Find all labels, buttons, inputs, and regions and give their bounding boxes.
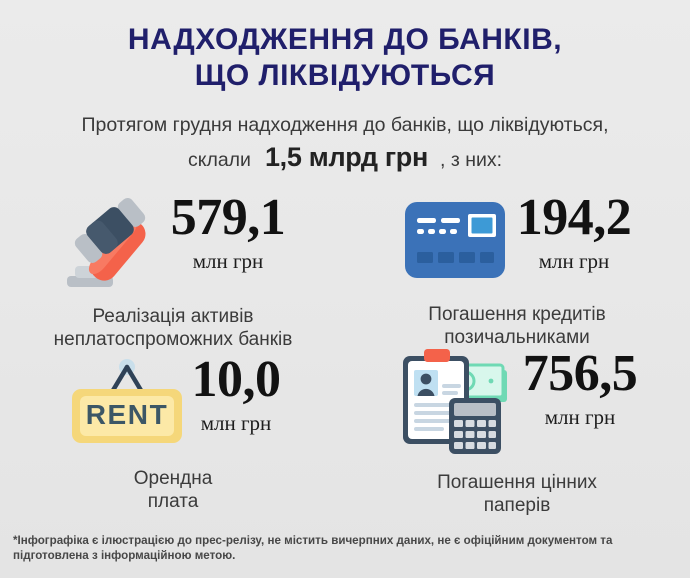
stat-unit-rent: млн грн [192, 410, 281, 436]
stat-label-assets-line-1: Реалізація активів [8, 305, 338, 328]
subtitle-line-2: склали 1,5 млрд грн , з них: [0, 142, 690, 175]
page-title: НАДХОДЖЕННЯ ДО БАНКІВ, ЩО ЛІКВІДУЮТЬСЯ [0, 22, 690, 94]
subtitle: Протягом грудня надходження до банків, щ… [0, 112, 690, 175]
infographic-canvas: НАДХОДЖЕННЯ ДО БАНКІВ, ЩО ЛІКВІДУЮТЬСЯ П… [0, 0, 690, 578]
stat-label-rent-line-1: Орендна [8, 467, 338, 490]
stats-grid: 579,1 млн грн Реалізація активів неплато… [0, 190, 690, 520]
stat-row-assets: 579,1 млн грн [8, 190, 338, 295]
stat-label-credits-line-1: Погашення кредитів [352, 303, 682, 326]
stat-label-assets-line-2: неплатоспроможних банків [8, 328, 338, 351]
footnote-line-1: *Інфографіка є ілюстрацією до прес-реліз… [13, 533, 679, 548]
securities-icon: $ [397, 346, 523, 461]
stat-value-papers: 756,5 [523, 348, 638, 400]
stat-figures-assets: 579,1 млн грн [171, 190, 286, 274]
total-amount: 1,5 млрд грн [265, 142, 428, 172]
stat-label-papers-line-2: паперів [352, 494, 682, 517]
rent-sign-text: RENT [85, 399, 168, 430]
stat-figures-credits: 194,2 млн грн [517, 190, 632, 274]
stat-figures-rent: 10,0 млн грн [192, 352, 281, 436]
footnote-line-2: підготовлена з інформаційною метою. [13, 548, 679, 563]
title-line-1: НАДХОДЖЕННЯ ДО БАНКІВ, [0, 22, 690, 58]
subtitle-line-1: Протягом грудня надходження до банків, щ… [0, 112, 690, 138]
stat-unit-assets: млн грн [171, 248, 286, 274]
stat-label-assets: Реалізація активів неплатоспроможних бан… [8, 305, 338, 351]
stat-unit-credits: млн грн [517, 248, 632, 274]
subtitle-prefix: склали [188, 145, 251, 175]
stat-label-papers: Погашення цінних паперів [352, 471, 682, 517]
stat-card-rent: RENT 10,0 млн грн Орендна плата [8, 352, 338, 513]
rent-sign-icon: RENT [66, 352, 192, 457]
stat-row-rent: RENT 10,0 млн грн [8, 352, 338, 457]
calculator-icon [449, 398, 501, 454]
credit-card-icon [403, 190, 517, 293]
stat-label-credits: Погашення кредитів позичальниками [352, 303, 682, 349]
stat-figures-papers: 756,5 млн грн [523, 346, 638, 430]
title-line-2: ЩО ЛІКВІДУЮТЬСЯ [0, 58, 690, 94]
stat-row-papers: $ [352, 346, 682, 461]
stat-label-papers-line-1: Погашення цінних [352, 471, 682, 494]
stat-value-rent: 10,0 [192, 354, 281, 406]
subtitle-suffix: , з них: [440, 145, 502, 175]
stat-card-papers: $ [352, 346, 682, 517]
stat-value-credits: 194,2 [517, 192, 632, 244]
stat-label-rent: Орендна плата [8, 467, 338, 513]
stat-label-rent-line-2: плата [8, 490, 338, 513]
footnote-disclaimer: *Інфографіка є ілюстрацією до прес-реліз… [13, 533, 679, 563]
stat-unit-papers: млн грн [523, 404, 638, 430]
stat-card-credits: 194,2 млн грн Погашення кредитів позичал… [352, 190, 682, 349]
gavel-icon [61, 190, 171, 295]
stat-value-assets: 579,1 [171, 192, 286, 244]
stat-row-credits: 194,2 млн грн [352, 190, 682, 293]
stat-card-assets: 579,1 млн грн Реалізація активів неплато… [8, 190, 338, 351]
